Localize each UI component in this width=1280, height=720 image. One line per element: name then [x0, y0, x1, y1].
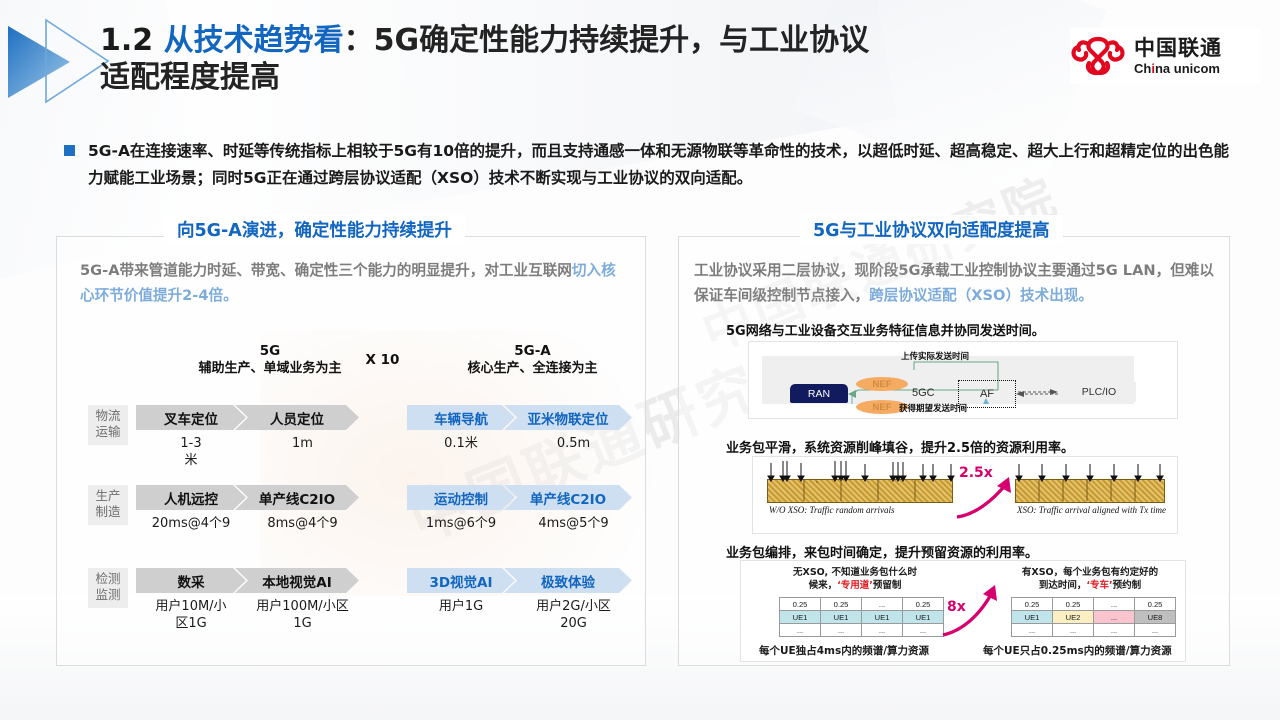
cell: ... [780, 624, 821, 637]
cell: UE8 [1135, 611, 1176, 624]
table-row: UE1 UE1 UE1 UE1 [780, 611, 944, 624]
cell: 0.25 [780, 598, 821, 611]
col-5g-title: 5G [155, 343, 385, 360]
table-right: 0.25 0.25 ... 0.25 UE1 UE2 ... UE8 ... .… [1011, 597, 1176, 637]
cell: ... [1053, 624, 1094, 637]
traffic-caption-left: W/O XSO: Traffic random arrivals [769, 505, 929, 516]
diagram-canvas: RAN NEF NEF 5GC AF PLC/IO [762, 356, 1134, 404]
play-arrow-icon [8, 18, 113, 109]
traffic-growth-arrow-icon [953, 475, 1019, 523]
row-category-label: 检测监测 [88, 568, 128, 608]
table-row: 生产制造 人机远控 单产线C2IO 20ms@4个9 8ms@4个9 运动控制 … [88, 485, 632, 532]
right-note-2: 业务包平滑，系统资源削峰填谷，提升2.5倍的资源利用率。 [726, 437, 1074, 456]
capability-value: 8ms@4个9 [246, 515, 359, 532]
bullet-text: 5G-A在连接速率、时延等传统指标上相较于5G有10倍的提升，而且支持通感一体和… [88, 138, 1234, 192]
right-note-1: 5G网络与工业设备交互业务特征信息并协同发送时间。 [726, 320, 1045, 339]
capability-chip: 叉车定位 [136, 405, 246, 430]
traffic-smoothing-figure: W/O XSO: Traffic random arrivals 2.5x XS… [752, 456, 1178, 534]
table-row: 检测监测 数采 本地视觉AI 用户10M/小区1G 用户100M/小区1G 3D… [88, 568, 632, 632]
cell: UE2 [1053, 611, 1094, 624]
key-point-bullet: 5G-A在连接速率、时延等传统指标上相较于5G有10倍的提升，而且支持通感一体和… [64, 138, 1234, 192]
cell: 0.25 [1053, 598, 1094, 611]
cell: 0.25 [1012, 598, 1053, 611]
cell: UE1 [780, 611, 821, 624]
capability-value: 用户1G [407, 598, 515, 632]
table-right-heading: 有XSO，每个业务包有约定好的 到达时间，‘专车’预约制 [995, 566, 1185, 592]
cell: ... [1094, 611, 1135, 624]
cell: 0.25 [1135, 598, 1176, 611]
node-nef-upper: NEF [856, 377, 908, 391]
cell: UE1 [821, 611, 862, 624]
capability-value: 1m [246, 435, 359, 469]
capability-value: 1-3米 [136, 435, 246, 469]
column-header-5ga: 5G-A 核心生产、全连接为主 [425, 343, 640, 377]
traffic-caption-right: XSO: Traffic arrival aligned with Tx tim… [1017, 505, 1177, 516]
capability-value: 0.5m [515, 435, 632, 452]
page-title: 1.2 从技术趋势看：5G确定性能力持续提升，与工业协议 适配程度提高 [100, 22, 1050, 96]
col-5ga-subtitle: 核心生产、全连接为主 [425, 360, 640, 377]
cell: UE1 [862, 611, 903, 624]
capability-chip: 运动控制 [407, 485, 515, 510]
capability-value: 4ms@5个9 [515, 515, 632, 532]
row-category-label: 生产制造 [88, 485, 128, 525]
cell: ... [862, 624, 903, 637]
table-row: 0.25 0.25 ... 0.25 [1012, 598, 1176, 611]
capability-value: 用户100M/小区1G [246, 598, 359, 632]
right-note-3: 业务包编排，来包时间确定，提升预留资源的利用率。 [726, 542, 1038, 561]
network-architecture-diagram: RAN NEF NEF 5GC AF PLC/IO 上传实际发送时间 获得期望发… [748, 341, 1178, 419]
capability-value: 用户10M/小区1G [136, 598, 246, 632]
column-header-5g: 5G 辅助生产、单域业务为主 [155, 343, 385, 377]
capability-value: 0.1米 [407, 435, 515, 452]
cell: ... [821, 624, 862, 637]
title-rest: ：5G确定性能力持续提升，与工业协议 [344, 23, 870, 58]
cell: ... [1135, 624, 1176, 637]
node-plc-io: PLC/IO [1062, 382, 1136, 402]
table-row: 物流运输 叉车定位 人员定位 1-3米 1m 车辆导航 亚米物联定位 0.1米 … [88, 405, 632, 469]
table-row: ... ... ... ... [1012, 624, 1176, 637]
capability-chip: 车辆导航 [407, 405, 515, 430]
diagram-label-upload-time: 上传实际发送时间 [901, 350, 969, 362]
capability-chip: 3D视觉AI [407, 568, 515, 593]
left-panel-title: 向5G-A演进，确定性能力持续提升 [164, 215, 465, 244]
col-5ga-title: 5G-A [425, 343, 640, 360]
capability-chip: 人机远控 [136, 485, 246, 510]
capability-chip: 人员定位 [235, 405, 359, 430]
traffic-bar-dividers-right [1015, 479, 1165, 503]
row-category-label: 物流运输 [88, 405, 128, 445]
packet-scheduling-figure: 无XSO, 不知道业务包什么时 候来，‘专用道’预留制 0.25 0.25 ..… [740, 560, 1186, 662]
capability-chip: 单产线C2IO [504, 485, 632, 510]
table-growth-arrow-icon [937, 583, 1003, 639]
capability-chip: 亚米物联定位 [504, 405, 632, 430]
cell: ... [1012, 624, 1053, 637]
cell: ... [1094, 598, 1135, 611]
table-row: 0.25 0.25 ... 0.25 [780, 598, 944, 611]
table-right-caption: 每个UE只占0.25ms内的频谱/算力资源 [983, 643, 1172, 658]
table-row: ... ... ... ... [780, 624, 944, 637]
capability-value: 20ms@4个9 [136, 515, 246, 532]
cell: 0.25 [821, 598, 862, 611]
cell: ... [1094, 624, 1135, 637]
column-multiplier-x10: X 10 [355, 352, 410, 368]
slide-header: 1.2 从技术趋势看：5G确定性能力持续提升，与工业协议 适配程度提高 中国联通… [0, 0, 1280, 118]
logo-english-text: China unicom [1134, 62, 1222, 75]
table-left-caption: 每个UE独占4ms内的频谱/算力资源 [759, 643, 929, 658]
unicom-knot-icon [1070, 33, 1126, 79]
capability-chip: 数采 [136, 568, 246, 593]
diagram-label-expected-time: 获得期望发送时间 [899, 402, 967, 414]
right-panel-title: 5G与工业协议双向适配度提高 [800, 215, 1063, 244]
logo-chinese-text: 中国联通 [1134, 38, 1222, 59]
table-left: 0.25 0.25 ... 0.25 UE1 UE1 UE1 UE1 ... .… [779, 597, 944, 637]
title-highlight: 从技术趋势看 [164, 23, 344, 58]
bullet-square-icon [64, 145, 75, 156]
title-number: 1.2 [100, 23, 164, 58]
capability-value: 1ms@6个9 [407, 515, 515, 532]
cell: UE1 [1012, 611, 1053, 624]
capability-chip: 单产线C2IO [235, 485, 359, 510]
china-unicom-logo: 中国联通 China unicom [1070, 28, 1260, 84]
cell: ... [862, 598, 903, 611]
traffic-bar-dividers-left [767, 479, 953, 503]
table-row: UE1 UE2 ... UE8 [1012, 611, 1176, 624]
table-left-heading: 无XSO, 不知道业务包什么时 候来，‘专用道’预留制 [765, 566, 945, 592]
col-5g-subtitle: 辅助生产、单域业务为主 [155, 360, 385, 377]
node-5gc-label: 5GC [912, 387, 935, 399]
title-line-2: 适配程度提高 [100, 59, 1050, 96]
node-ran: RAN [790, 384, 848, 403]
capability-chip: 极致体验 [504, 568, 632, 593]
capability-chip: 本地视觉AI [235, 568, 359, 593]
capability-value: 用户2G/小区20G [515, 598, 632, 632]
